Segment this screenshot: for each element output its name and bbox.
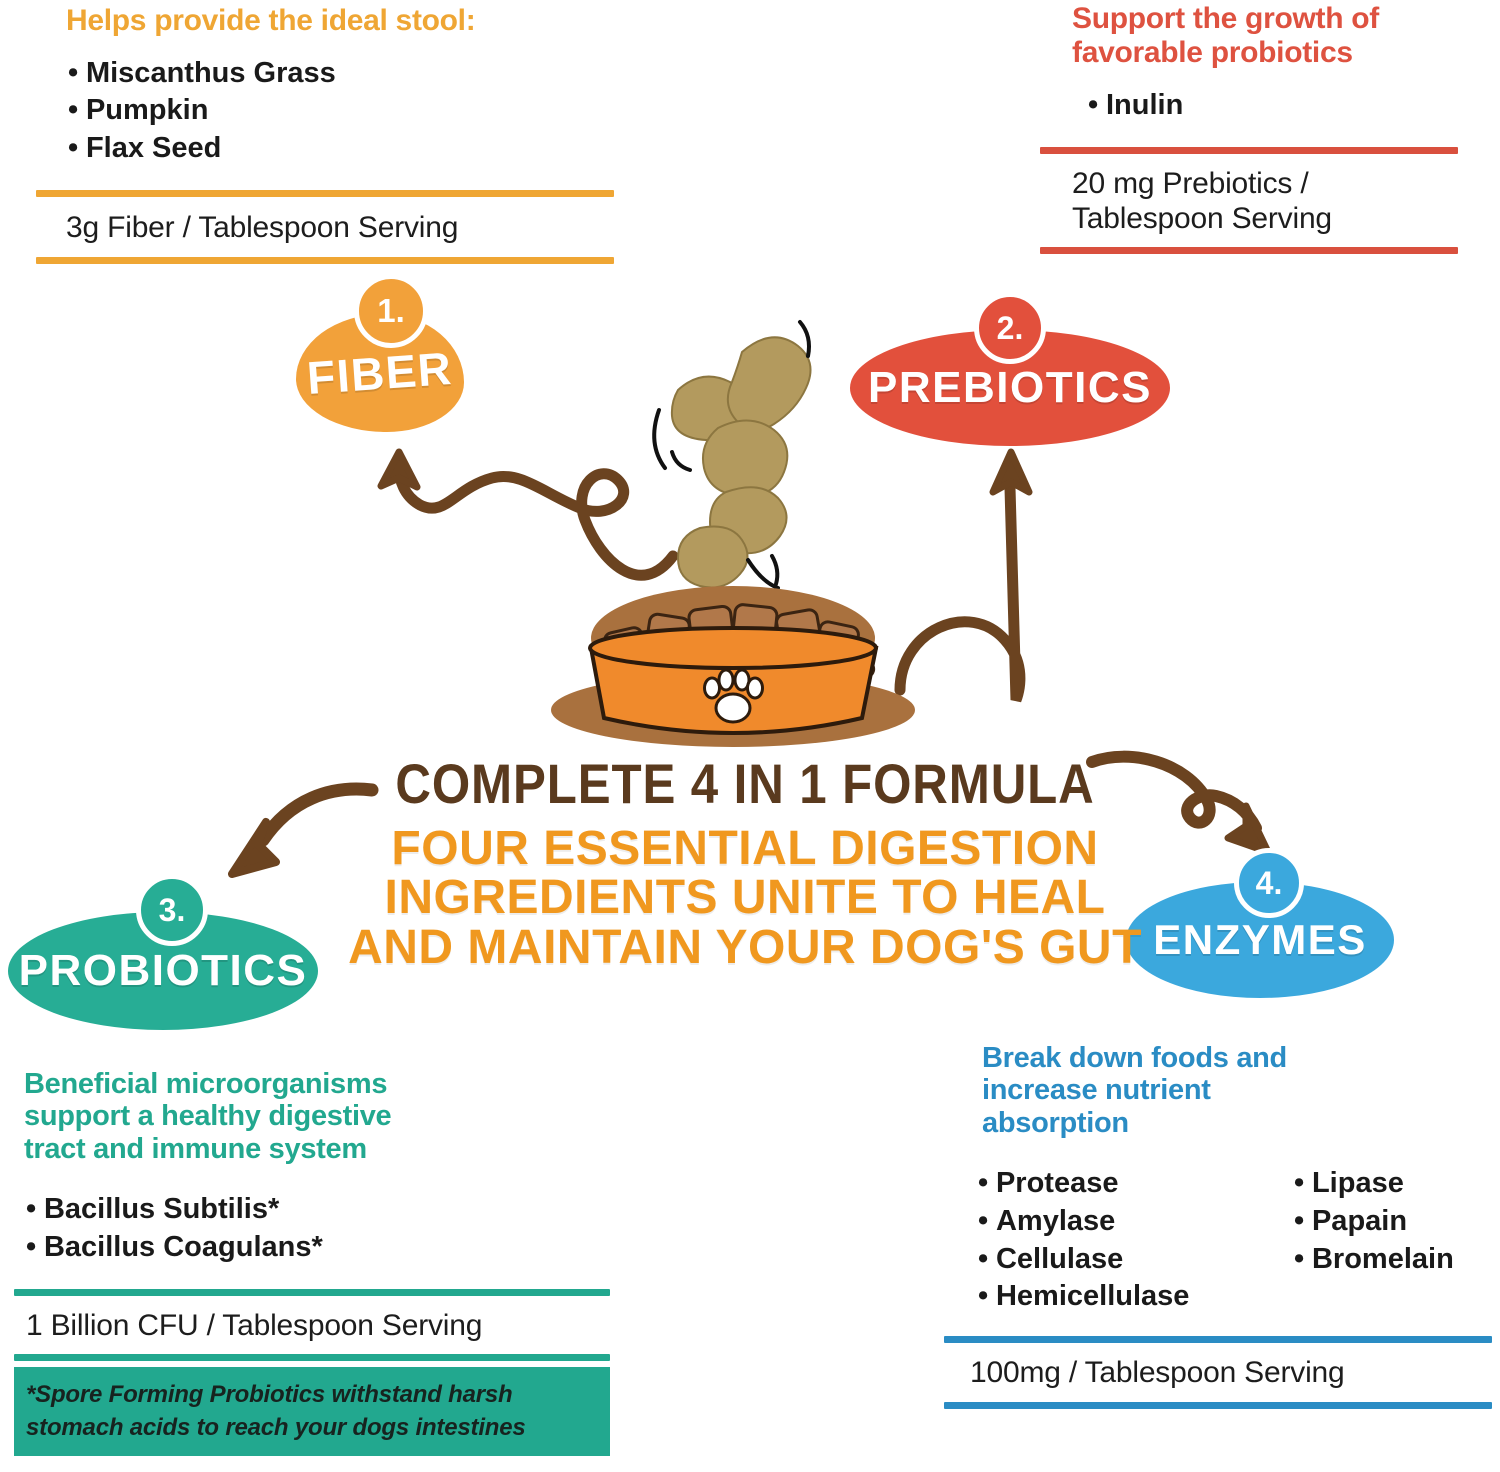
badge-enzymes-label: ENZYMES — [1153, 916, 1367, 964]
prebiotics-serving-line2: Tablespoon Serving — [1072, 201, 1456, 236]
prebiotics-serving-text: 20 mg Prebiotics / Tablespoon Serving — [1040, 154, 1458, 247]
list-item: Amylase — [978, 1203, 1294, 1241]
list-item: Bromelain — [1294, 1241, 1492, 1279]
probiotics-divider-bottom — [14, 1354, 610, 1361]
fiber-divider-top — [36, 190, 614, 197]
arrow-to-prebiotics-icon — [900, 452, 1029, 700]
fiber-serving-text: 3g Fiber / Tablespoon Serving — [36, 197, 614, 257]
probiotics-heading-line3: tract and immune system — [24, 1133, 610, 1165]
enzymes-heading-line2: increase nutrient — [982, 1074, 1492, 1106]
probiotics-heading-line2: support a healthy digestive — [24, 1100, 610, 1132]
list-item: Bacillus Subtilis* — [26, 1191, 610, 1229]
badge-fiber[interactable]: 1. FIBER — [296, 314, 464, 432]
enzymes-serving-text: 100mg / Tablespoon Serving — [944, 1343, 1492, 1401]
enzymes-column-left: Protease Amylase Cellulase Hemicellulase — [944, 1165, 1294, 1316]
probiotics-footnote: *Spore Forming Probiotics withstand hars… — [14, 1367, 610, 1456]
formula-title: COMPLETE 4 IN 1 FORMULA — [380, 756, 1110, 812]
probiotics-heading-line1: Beneficial microorganisms — [24, 1068, 610, 1100]
formula-subtitle-line2: INGREDIENTS UNITE TO HEAL — [330, 873, 1160, 922]
enzymes-divider-top — [944, 1336, 1492, 1343]
badge-enzymes[interactable]: 4. ENZYMES — [1126, 882, 1394, 998]
prebiotics-section: Support the growth of favorable probioti… — [1040, 0, 1458, 254]
badge-prebiotics-number: 2. — [974, 292, 1046, 364]
badge-prebiotics[interactable]: 2. PREBIOTICS — [850, 330, 1170, 446]
enzymes-section: Break down foods and increase nutrient a… — [944, 1042, 1492, 1409]
enzymes-heading-line3: absorption — [982, 1107, 1492, 1139]
badge-probiotics-number: 3. — [136, 874, 208, 946]
list-item: Cellulase — [978, 1241, 1294, 1279]
list-item: Protease — [978, 1165, 1294, 1203]
fiber-heading: Helps provide the ideal stool: — [36, 0, 614, 38]
prebiotics-heading-line2: favorable probiotics — [1072, 36, 1458, 70]
formula-subtitle-line3: AND MAINTAIN YOUR DOG'S GUT — [330, 923, 1160, 972]
dog-bowl-icon — [551, 586, 915, 747]
enzymes-ingredient-columns: Protease Amylase Cellulase Hemicellulase… — [944, 1165, 1492, 1316]
badge-fiber-label: FIBER — [306, 341, 455, 405]
list-item: Inulin — [1088, 87, 1458, 125]
arrow-to-fiber-icon — [381, 452, 673, 575]
enzymes-column-right: Lipase Papain Bromelain — [1294, 1165, 1492, 1316]
probiotics-serving-text: 1 Billion CFU / Tablespoon Serving — [14, 1296, 610, 1354]
badge-enzymes-number: 4. — [1234, 848, 1304, 918]
list-item: Hemicellulase — [978, 1278, 1294, 1316]
probiotics-heading: Beneficial microorganisms support a heal… — [14, 1068, 610, 1165]
fiber-section: Helps provide the ideal stool: Miscanthu… — [36, 0, 614, 264]
enzymes-divider-bottom — [944, 1402, 1492, 1409]
probiotics-section: Beneficial microorganisms support a heal… — [14, 1068, 610, 1456]
formula-subtitle: FOUR ESSENTIAL DIGESTION INGREDIENTS UNI… — [330, 824, 1160, 972]
prebiotics-divider-bottom — [1040, 247, 1458, 254]
formula-subtitle-line1: FOUR ESSENTIAL DIGESTION — [330, 824, 1160, 873]
probiotics-footnote-line1: *Spore Forming Probiotics withstand hars… — [26, 1379, 600, 1411]
badge-fiber-number: 1. — [354, 274, 428, 348]
infographic-canvas: Helps provide the ideal stool: Miscanthu… — [0, 0, 1500, 1472]
badge-prebiotics-label: PREBIOTICS — [868, 363, 1152, 413]
fiber-divider-bottom — [36, 257, 614, 264]
enzymes-ingredient-list-right: Lipase Papain Bromelain — [1294, 1165, 1492, 1278]
probiotics-divider-top — [14, 1289, 610, 1296]
list-item: Papain — [1294, 1203, 1492, 1241]
list-item: Miscanthus Grass — [68, 55, 614, 93]
probiotics-ingredient-list: Bacillus Subtilis* Bacillus Coagulans* — [14, 1191, 610, 1266]
enzymes-heading-line1: Break down foods and — [982, 1042, 1492, 1074]
prebiotics-ingredient-list: Inulin — [1040, 87, 1458, 125]
falling-kibble-icon — [654, 322, 810, 588]
badge-probiotics[interactable]: 3. PROBIOTICS — [8, 912, 318, 1030]
badge-probiotics-label: PROBIOTICS — [19, 946, 308, 996]
list-item: Pumpkin — [68, 92, 614, 130]
probiotics-footnote-line2: stomach acids to reach your dogs intesti… — [26, 1412, 600, 1444]
list-item: Lipase — [1294, 1165, 1492, 1203]
prebiotics-divider-top — [1040, 147, 1458, 154]
prebiotics-heading-line1: Support the growth of — [1072, 2, 1458, 36]
fiber-ingredient-list: Miscanthus Grass Pumpkin Flax Seed — [36, 55, 614, 168]
list-item: Bacillus Coagulans* — [26, 1229, 610, 1267]
enzymes-heading: Break down foods and increase nutrient a… — [944, 1042, 1492, 1139]
enzymes-ingredient-list-left: Protease Amylase Cellulase Hemicellulase — [978, 1165, 1294, 1316]
list-item: Flax Seed — [68, 130, 614, 168]
center-heading-block: COMPLETE 4 IN 1 FORMULA FOUR ESSENTIAL D… — [330, 756, 1160, 972]
prebiotics-heading: Support the growth of favorable probioti… — [1040, 0, 1458, 69]
prebiotics-serving-line1: 20 mg Prebiotics / — [1072, 166, 1456, 201]
